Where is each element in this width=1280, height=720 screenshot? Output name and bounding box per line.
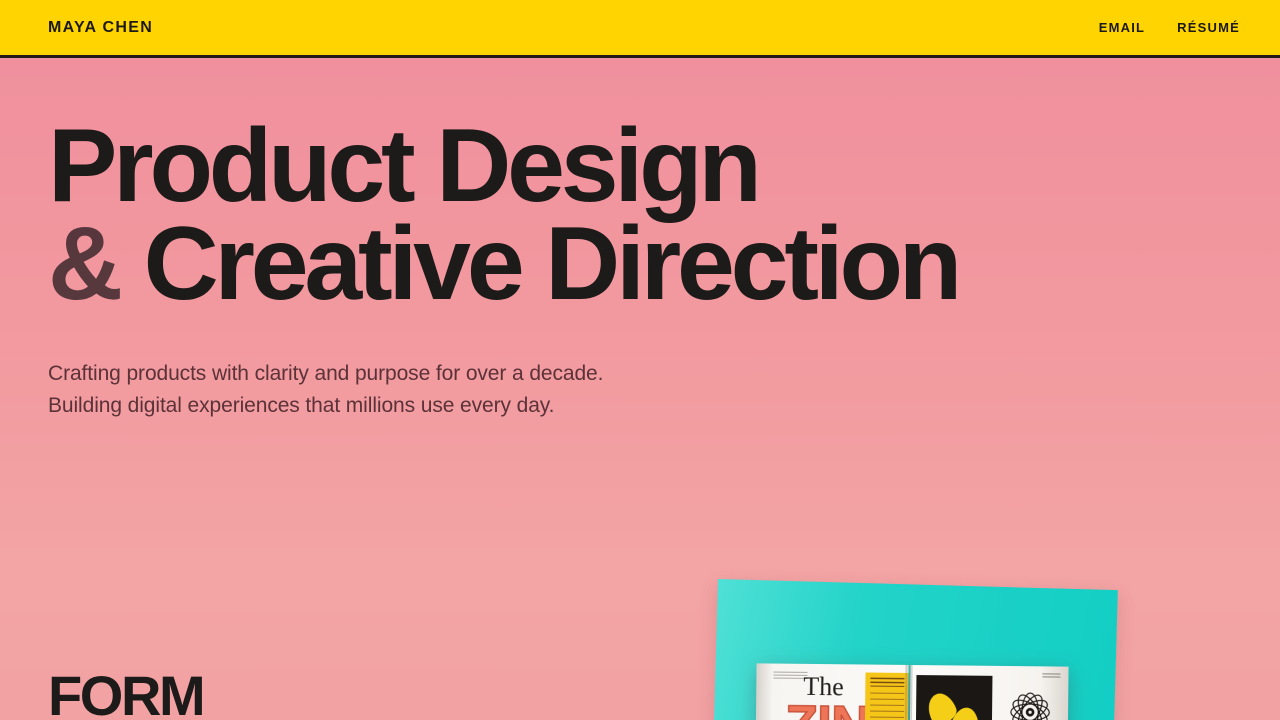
hero-subcopy: Crafting products with clarity and purpo… xyxy=(48,314,1048,422)
nav-link-resume[interactable]: RÉSUMÉ xyxy=(1177,20,1240,35)
magazine-title-display: ZIN xyxy=(785,698,870,720)
headline-line-2: & Creative Direction xyxy=(48,216,1048,314)
page-root: MAYA CHEN EMAIL RÉSUMÉ Product Design & … xyxy=(0,0,1280,720)
magazine-left-page: The ZIN xyxy=(755,663,908,720)
magazine-photo: The ZIN xyxy=(660,561,1220,720)
sidebar-heading-lines xyxy=(870,678,904,687)
page-title: Product Design & Creative Direction xyxy=(48,118,1048,314)
open-magazine: The ZIN xyxy=(755,663,1068,720)
black-art-panel xyxy=(915,675,992,720)
kicker-text-block xyxy=(773,672,807,680)
subcopy-line-2: Building digital experiences that millio… xyxy=(48,390,1048,422)
site-header: MAYA CHEN EMAIL RÉSUMÉ xyxy=(0,0,1280,58)
atom-diagram-icon xyxy=(1006,688,1055,720)
magazine-right-page xyxy=(909,665,1068,720)
magazine-gutter xyxy=(904,665,912,720)
primary-nav: EMAIL RÉSUMÉ xyxy=(1099,20,1240,35)
sidebar-body-lines xyxy=(870,693,905,720)
section-label-form: FORM xyxy=(48,668,203,720)
headline-line-2-rest: Creative Direction xyxy=(119,206,958,322)
nav-link-email[interactable]: EMAIL xyxy=(1099,20,1145,35)
page-folio-text xyxy=(1042,673,1060,678)
brand-wordmark[interactable]: MAYA CHEN xyxy=(48,19,153,37)
hero-section: Product Design & Creative Direction Craf… xyxy=(48,118,1048,422)
ampersand-glyph: & xyxy=(48,206,119,322)
yellow-sidebar-column xyxy=(864,673,908,720)
subcopy-line-1: Crafting products with clarity and purpo… xyxy=(48,358,1048,390)
